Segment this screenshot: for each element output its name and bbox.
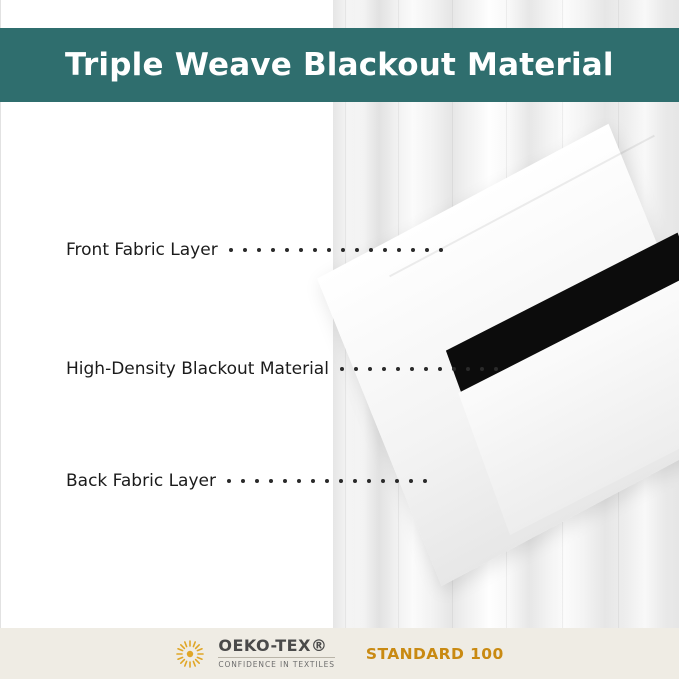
callout-blackout-material: High-Density Blackout Material	[66, 359, 508, 379]
leader-dots	[229, 248, 453, 252]
oeko-tex-standard: STANDARD 100	[366, 645, 504, 663]
oeko-tex-wordmark: OEKO-TEX® CONFIDENCE IN TEXTILES	[218, 638, 335, 669]
headline-banner: Triple Weave Blackout Material	[0, 28, 679, 102]
callout-front-fabric-layer: Front Fabric Layer	[66, 240, 453, 260]
callout-label: High-Density Blackout Material	[66, 359, 329, 379]
oeko-tex-flower-icon	[175, 639, 205, 669]
oeko-tex-brand: OEKO-TEX®	[218, 638, 327, 654]
oeko-tex-tagline: CONFIDENCE IN TEXTILES	[218, 657, 335, 669]
callout-label: Front Fabric Layer	[66, 240, 218, 260]
leader-dots	[227, 479, 437, 483]
banner-title: Triple Weave Blackout Material	[65, 47, 614, 83]
certification-footer: OEKO-TEX® CONFIDENCE IN TEXTILES STANDAR…	[0, 628, 679, 679]
leader-dots	[340, 367, 508, 371]
callout-label: Back Fabric Layer	[66, 471, 216, 491]
product-infographic: Triple Weave Blackout Material Front Fab…	[0, 0, 679, 679]
callout-back-fabric-layer: Back Fabric Layer	[66, 471, 437, 491]
